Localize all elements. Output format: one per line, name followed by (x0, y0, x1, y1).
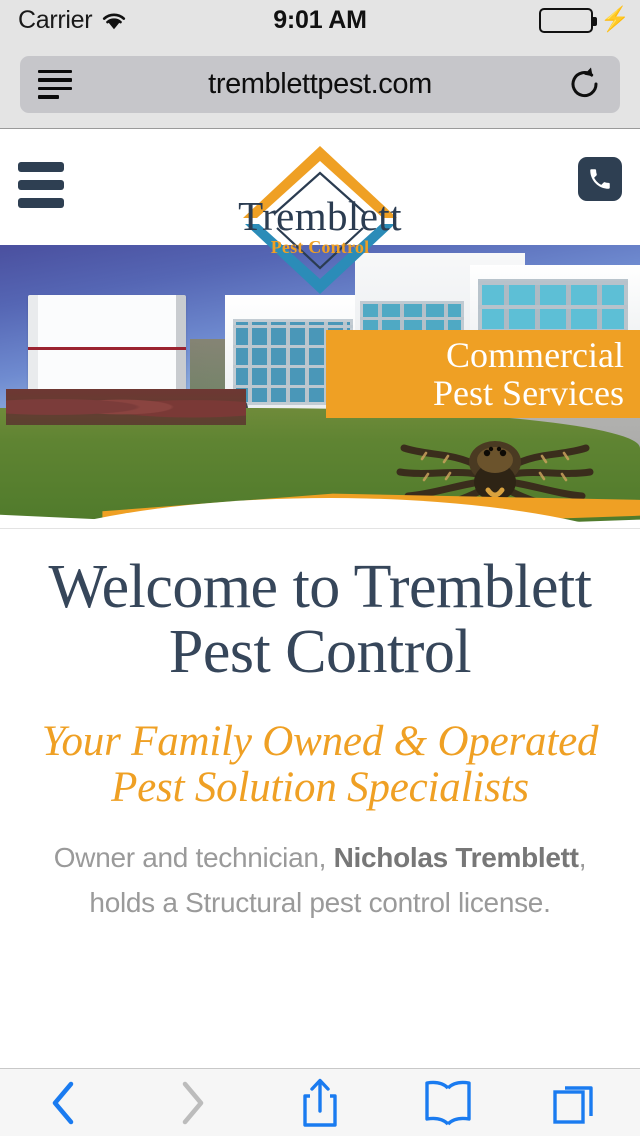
back-chevron-icon[interactable] (0, 1069, 128, 1136)
shrub-bed (6, 389, 246, 425)
logo-company-name: Tremblett (227, 196, 413, 237)
status-right: ⚡ (429, 8, 640, 33)
carrier-label: Carrier (18, 6, 92, 35)
reload-icon[interactable] (568, 66, 602, 102)
main-content: Welcome to Tremblett Pest Control Your F… (0, 528, 640, 1068)
logo-tagline: Pest Control (227, 238, 413, 256)
clock-label: 9:01 AM (273, 6, 367, 34)
page-subtitle: Your Family Owned & Operated Pest Soluti… (24, 719, 616, 810)
hero-banner-line2: Pest Services (433, 374, 624, 412)
intro-paragraph: Owner and technician, Nicholas Tremblett… (24, 836, 616, 926)
browser-url-bar-container: tremblettpest.com (0, 40, 640, 129)
hero-banner-line1: Commercial (446, 336, 624, 374)
status-bar: Carrier 9:01 AM ⚡ (0, 0, 640, 40)
phone-screen: Carrier 9:01 AM ⚡ tremblettpest (0, 0, 640, 1136)
wifi-icon (101, 11, 127, 30)
intro-prefix: Owner and technician, (54, 842, 334, 873)
page-title: Welcome to Tremblett Pest Control (24, 555, 616, 685)
url-bar[interactable]: tremblettpest.com (20, 56, 620, 113)
url-text[interactable]: tremblettpest.com (72, 68, 568, 101)
company-logo[interactable]: Tremblett Pest Control (227, 140, 413, 300)
hero-banner: Commercial Pest Services (326, 330, 640, 418)
lightning-bolt-icon: ⚡ (600, 8, 630, 32)
bookmarks-book-icon[interactable] (384, 1069, 512, 1136)
status-center: 9:01 AM (211, 6, 429, 35)
forward-chevron-icon (128, 1069, 256, 1136)
share-icon[interactable] (256, 1069, 384, 1136)
reader-mode-icon[interactable] (38, 70, 72, 99)
battery-full-icon (539, 8, 593, 33)
status-left: Carrier (0, 6, 211, 35)
owner-name: Nicholas Tremblett (334, 842, 579, 873)
monument-sign-stripe (28, 347, 186, 350)
phone-icon[interactable] (578, 157, 622, 201)
tabs-icon[interactable] (512, 1069, 640, 1136)
browser-toolbar (0, 1068, 640, 1136)
hamburger-menu-icon[interactable] (18, 162, 64, 208)
